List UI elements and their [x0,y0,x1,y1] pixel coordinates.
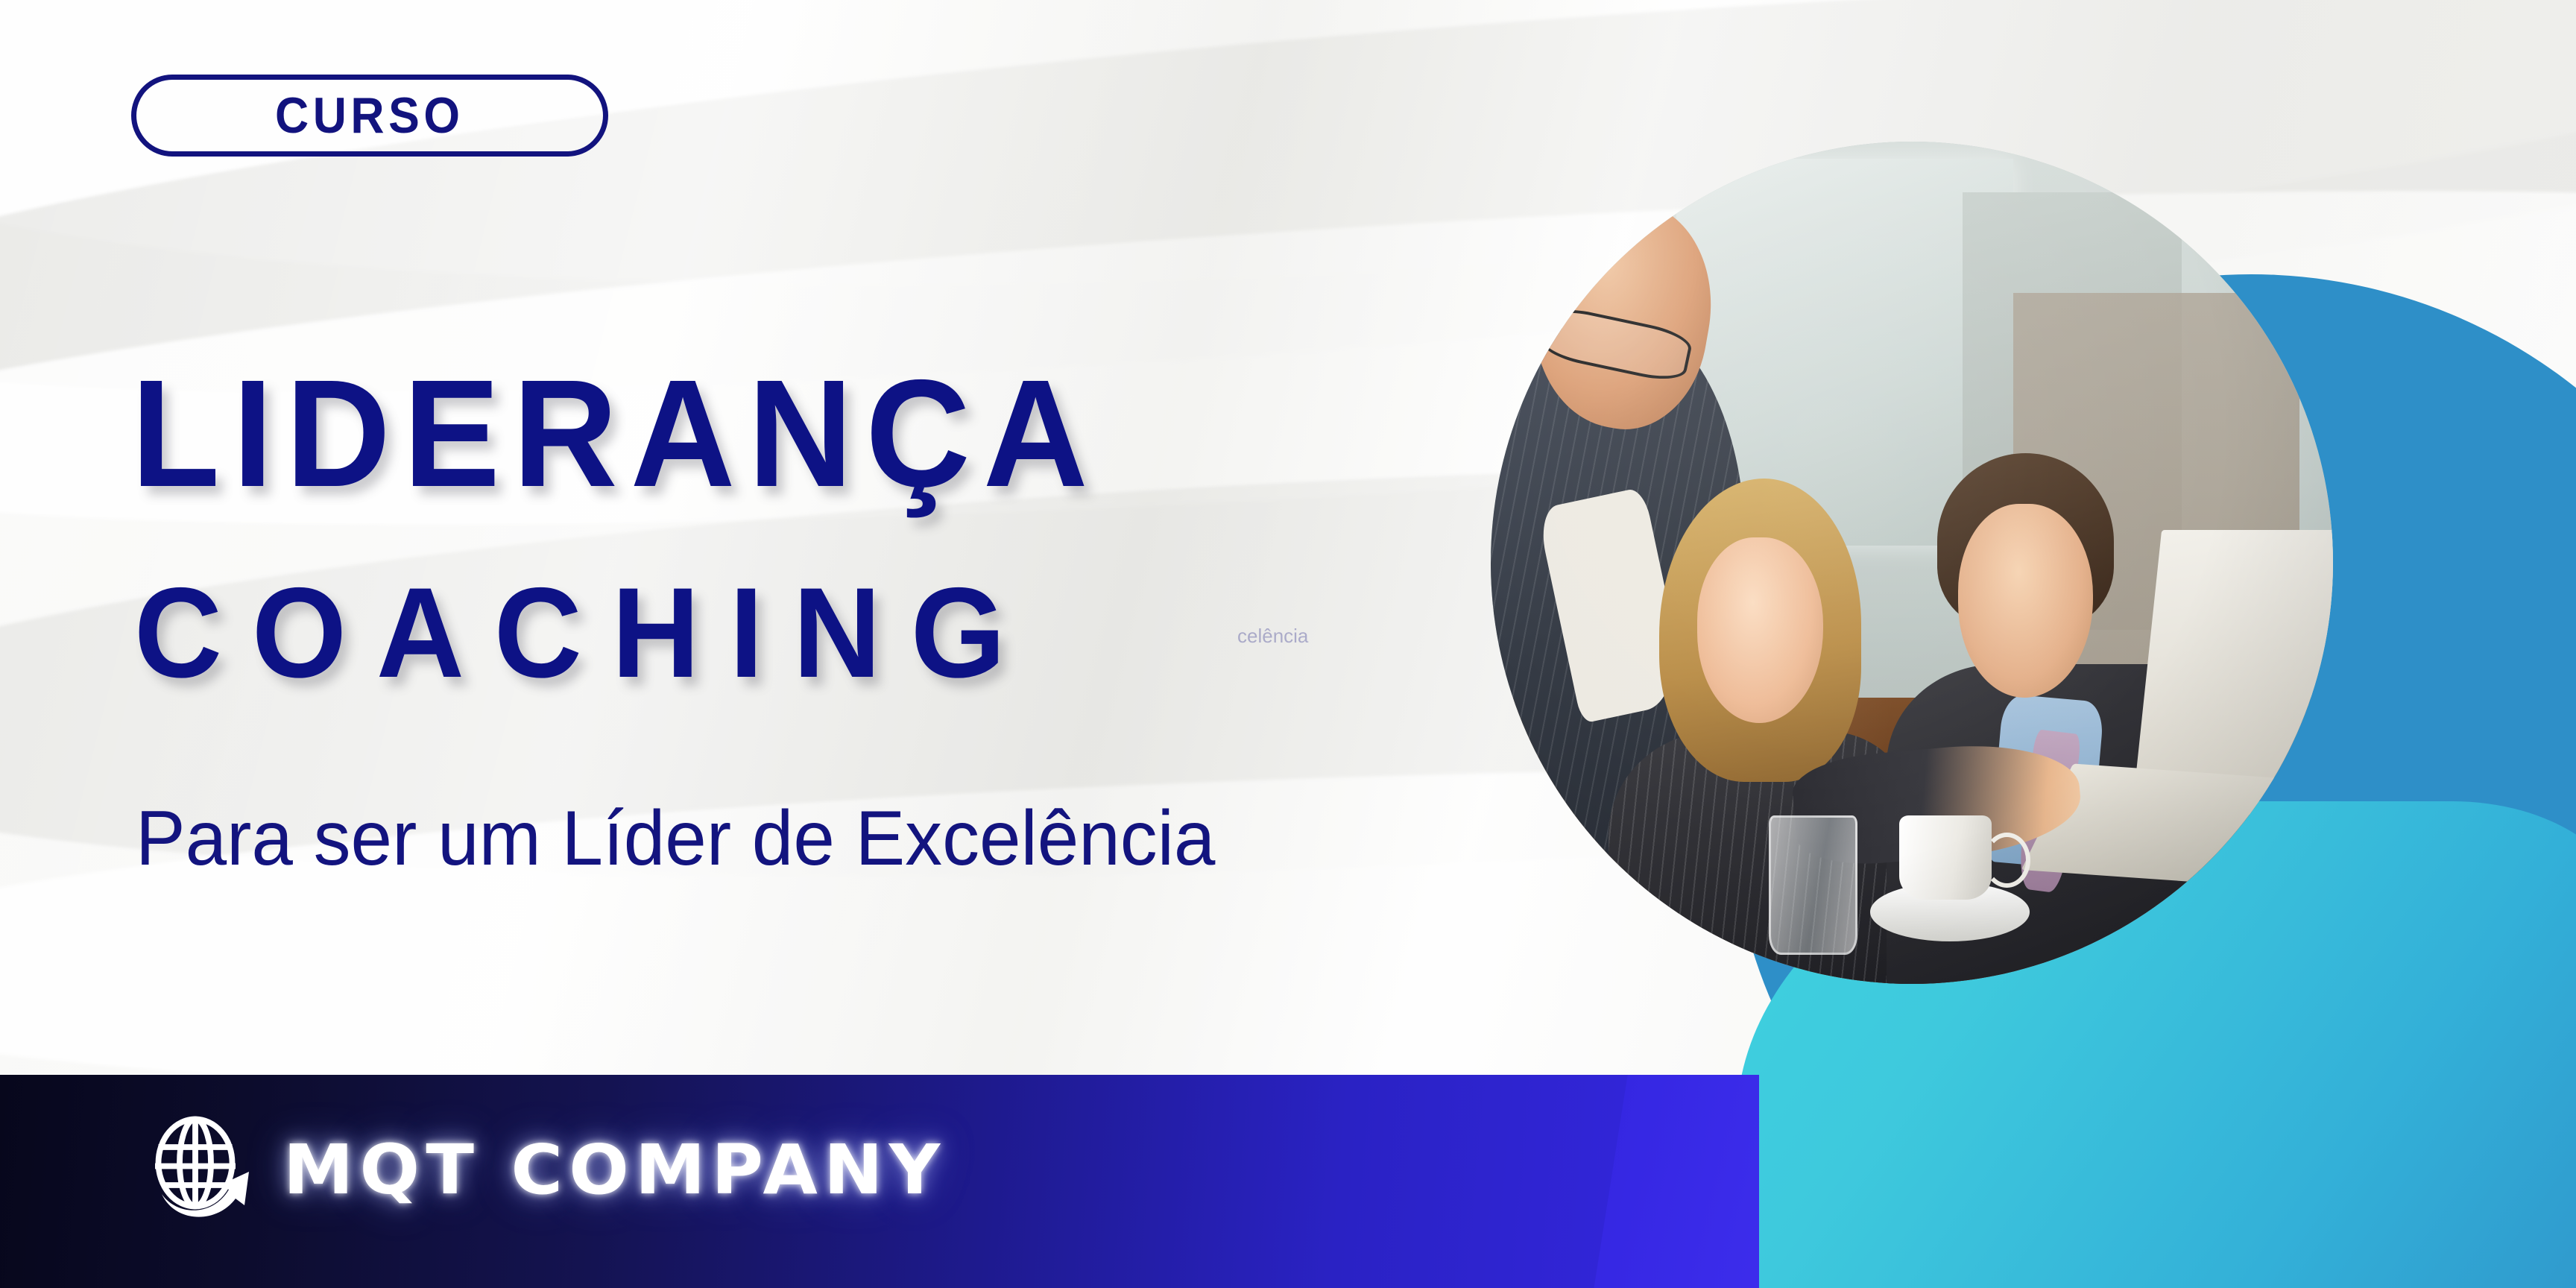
footer-edge-accent [1590,1075,1759,1288]
page-title-line-2: COACHING [134,574,1035,692]
photo-circle [1491,142,2333,984]
headline-content: CURSO LIDERANÇA COACHING celência Para s… [0,0,1491,1075]
ghost-subtitle-artifact: celência [1237,625,1308,648]
course-badge-label: CURSO [275,86,464,145]
course-promo-banner: CURSO LIDERANÇA COACHING celência Para s… [0,0,2576,1288]
brand-logo[interactable]: MQT COMPANY [146,1114,927,1225]
page-subtitle: Para ser um Líder de Excelência [136,795,1215,883]
page-title-line-1: LIDERANÇA [131,364,1101,505]
meeting-photo [1491,142,2333,984]
photo-vignette [1491,142,2333,984]
course-badge: CURSO [131,75,608,157]
brand-name: MQT COMPANY [283,1130,947,1210]
globe-arrow-icon [146,1114,258,1225]
